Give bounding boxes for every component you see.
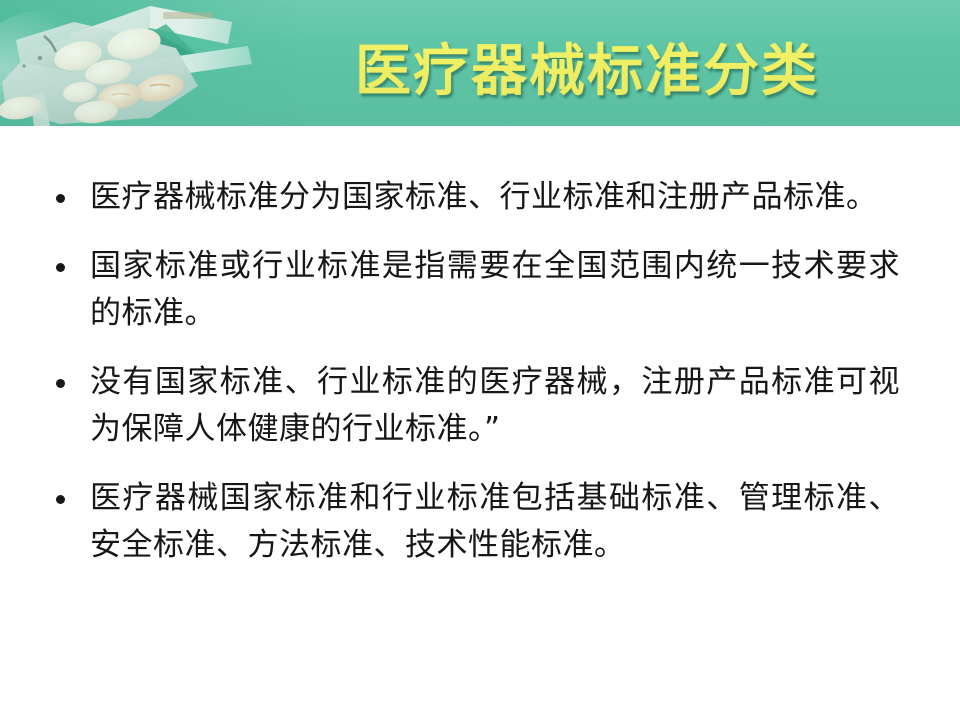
- bullet-text: 没有国家标准、行业标准的医疗器械，注册产品标准可视为保障人体健康的行业标准。”: [90, 359, 900, 453]
- bullet-item: 国家标准或行业标准是指需要在全国范围内统一技术要求的标准。: [0, 243, 960, 337]
- bullet-dot-icon: [56, 379, 65, 388]
- slide-body: 医疗器械标准分为国家标准、行业标准和注册产品标准。 国家标准或行业标准是指需要在…: [0, 126, 960, 720]
- bullet-item: 没有国家标准、行业标准的医疗器械，注册产品标准可视为保障人体健康的行业标准。”: [0, 359, 960, 453]
- bullet-text: 医疗器械国家标准和行业标准包括基础标准、管理标准、安全标准、方法标准、技术性能标…: [90, 475, 900, 569]
- bullet-dot-icon: [56, 194, 65, 203]
- bullet-text: 国家标准或行业标准是指需要在全国范围内统一技术要求的标准。: [90, 243, 900, 337]
- surgical-light-photo: [0, 0, 300, 126]
- slide-title: 医疗器械标准分类: [355, 36, 915, 108]
- presentation-slide: 医疗器械标准分类 医疗器械标准分为国家标准、行业标准和注册产品标准。 国家标准或…: [0, 0, 960, 720]
- bullet-dot-icon: [56, 263, 65, 272]
- bullet-item: 医疗器械国家标准和行业标准包括基础标准、管理标准、安全标准、方法标准、技术性能标…: [0, 475, 960, 569]
- bullet-list: 医疗器械标准分为国家标准、行业标准和注册产品标准。 国家标准或行业标准是指需要在…: [0, 126, 960, 569]
- bullet-dot-icon: [56, 495, 65, 504]
- bullet-item: 医疗器械标准分为国家标准、行业标准和注册产品标准。: [0, 174, 960, 221]
- slide-header-banner: 医疗器械标准分类: [0, 0, 960, 126]
- bullet-text: 医疗器械标准分为国家标准、行业标准和注册产品标准。: [90, 174, 900, 221]
